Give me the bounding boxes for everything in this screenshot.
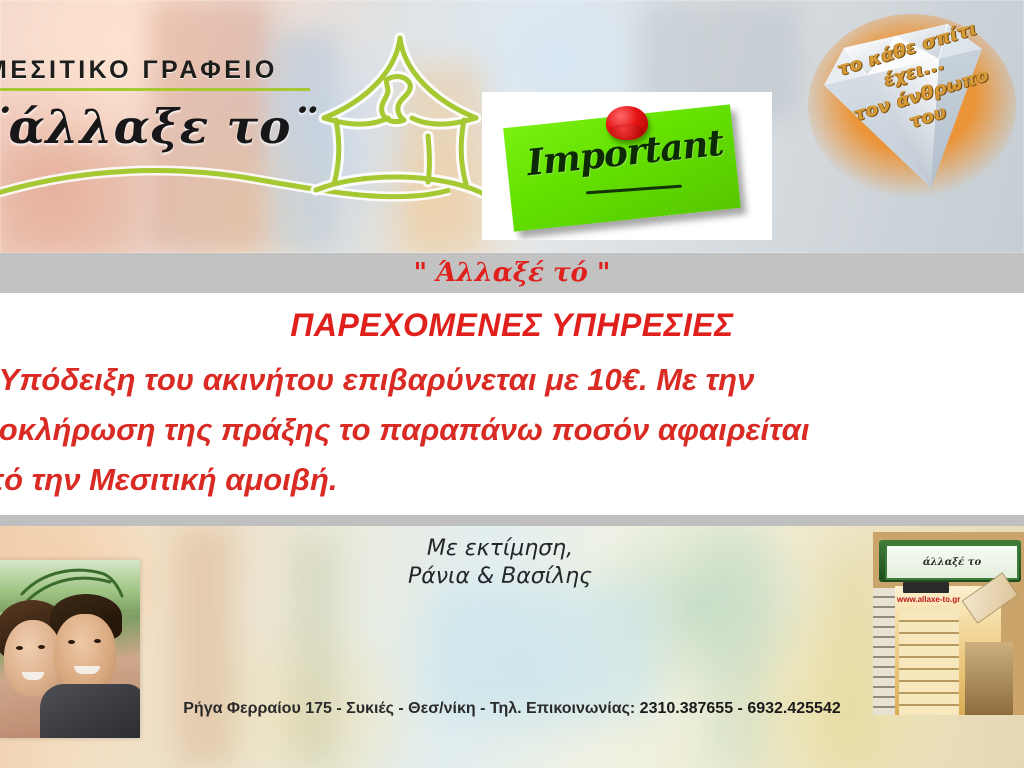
house-outline-icon xyxy=(300,22,500,212)
signature-line-1: Με εκτίμηση, xyxy=(330,535,670,563)
services-paragraph: / Υπόδειξη του ακινήτου επιβαρύνεται με … xyxy=(0,355,1024,505)
services-heading: ΠΑΡΕΧΟΜΕΝΕΣ ΥΠΗΡΕΣΙΕΣ xyxy=(0,307,1024,344)
paragraph-line-2: λοκλήρωση της πράξης το παραπάνω ποσόν α… xyxy=(0,405,1024,455)
important-note-graphic: Important xyxy=(482,92,772,240)
footer-contact-line: Ρήγα Φερραίου 175 - Συκιές - Θεσ/νίκη - … xyxy=(0,700,1024,718)
pushpin-icon xyxy=(606,106,648,140)
diamond-badge: το κάθε σπίτι έχει... τον άνθρωπο του xyxy=(805,14,1020,214)
logo-underline-rule xyxy=(0,88,310,91)
flyer-page: ΜΕΣΙΤΙΚΟ ΓΡΑΦΕΙΟ ¨άλλαξε το¨ xyxy=(0,0,1024,768)
shop-storefront-photo: άλλαξέ το www.allaxe-to.gr xyxy=(873,532,1024,715)
paragraph-line-3: πό την Μεσιτική αμοιβή. xyxy=(0,455,1024,505)
signature-line-2: Ράνια & Βασίλης xyxy=(330,563,670,591)
paragraph-line-1: / Υπόδειξη του ακινήτου επιβαρύνεται με … xyxy=(0,355,1024,405)
footer-address: Ρήγα Φερραίου 175 - Συκιές - Θεσ/νίκη - … xyxy=(183,700,639,717)
title-band: " Άλλαξέ τό " xyxy=(0,253,1024,293)
footer-phones: 2310.387655 - 6932.425542 xyxy=(640,700,841,717)
logo-line-allaxe-to: ¨άλλαξε το¨ xyxy=(0,100,316,155)
signature-block: Με εκτίμηση, Ράνια & Βασίλης xyxy=(330,535,670,591)
logo-line-mesitiko-grafeio: ΜΕΣΙΤΙΚΟ ΓΡΑΦΕΙΟ xyxy=(0,56,278,85)
section-divider xyxy=(0,515,1024,526)
main-content: ΠΑΡΕΧΟΜΕΝΕΣ ΥΠΗΡΕΣΙΕΣ / Υπόδειξη του ακι… xyxy=(0,293,1024,515)
title-band-text: " Άλλαξέ τό " xyxy=(0,253,1024,293)
